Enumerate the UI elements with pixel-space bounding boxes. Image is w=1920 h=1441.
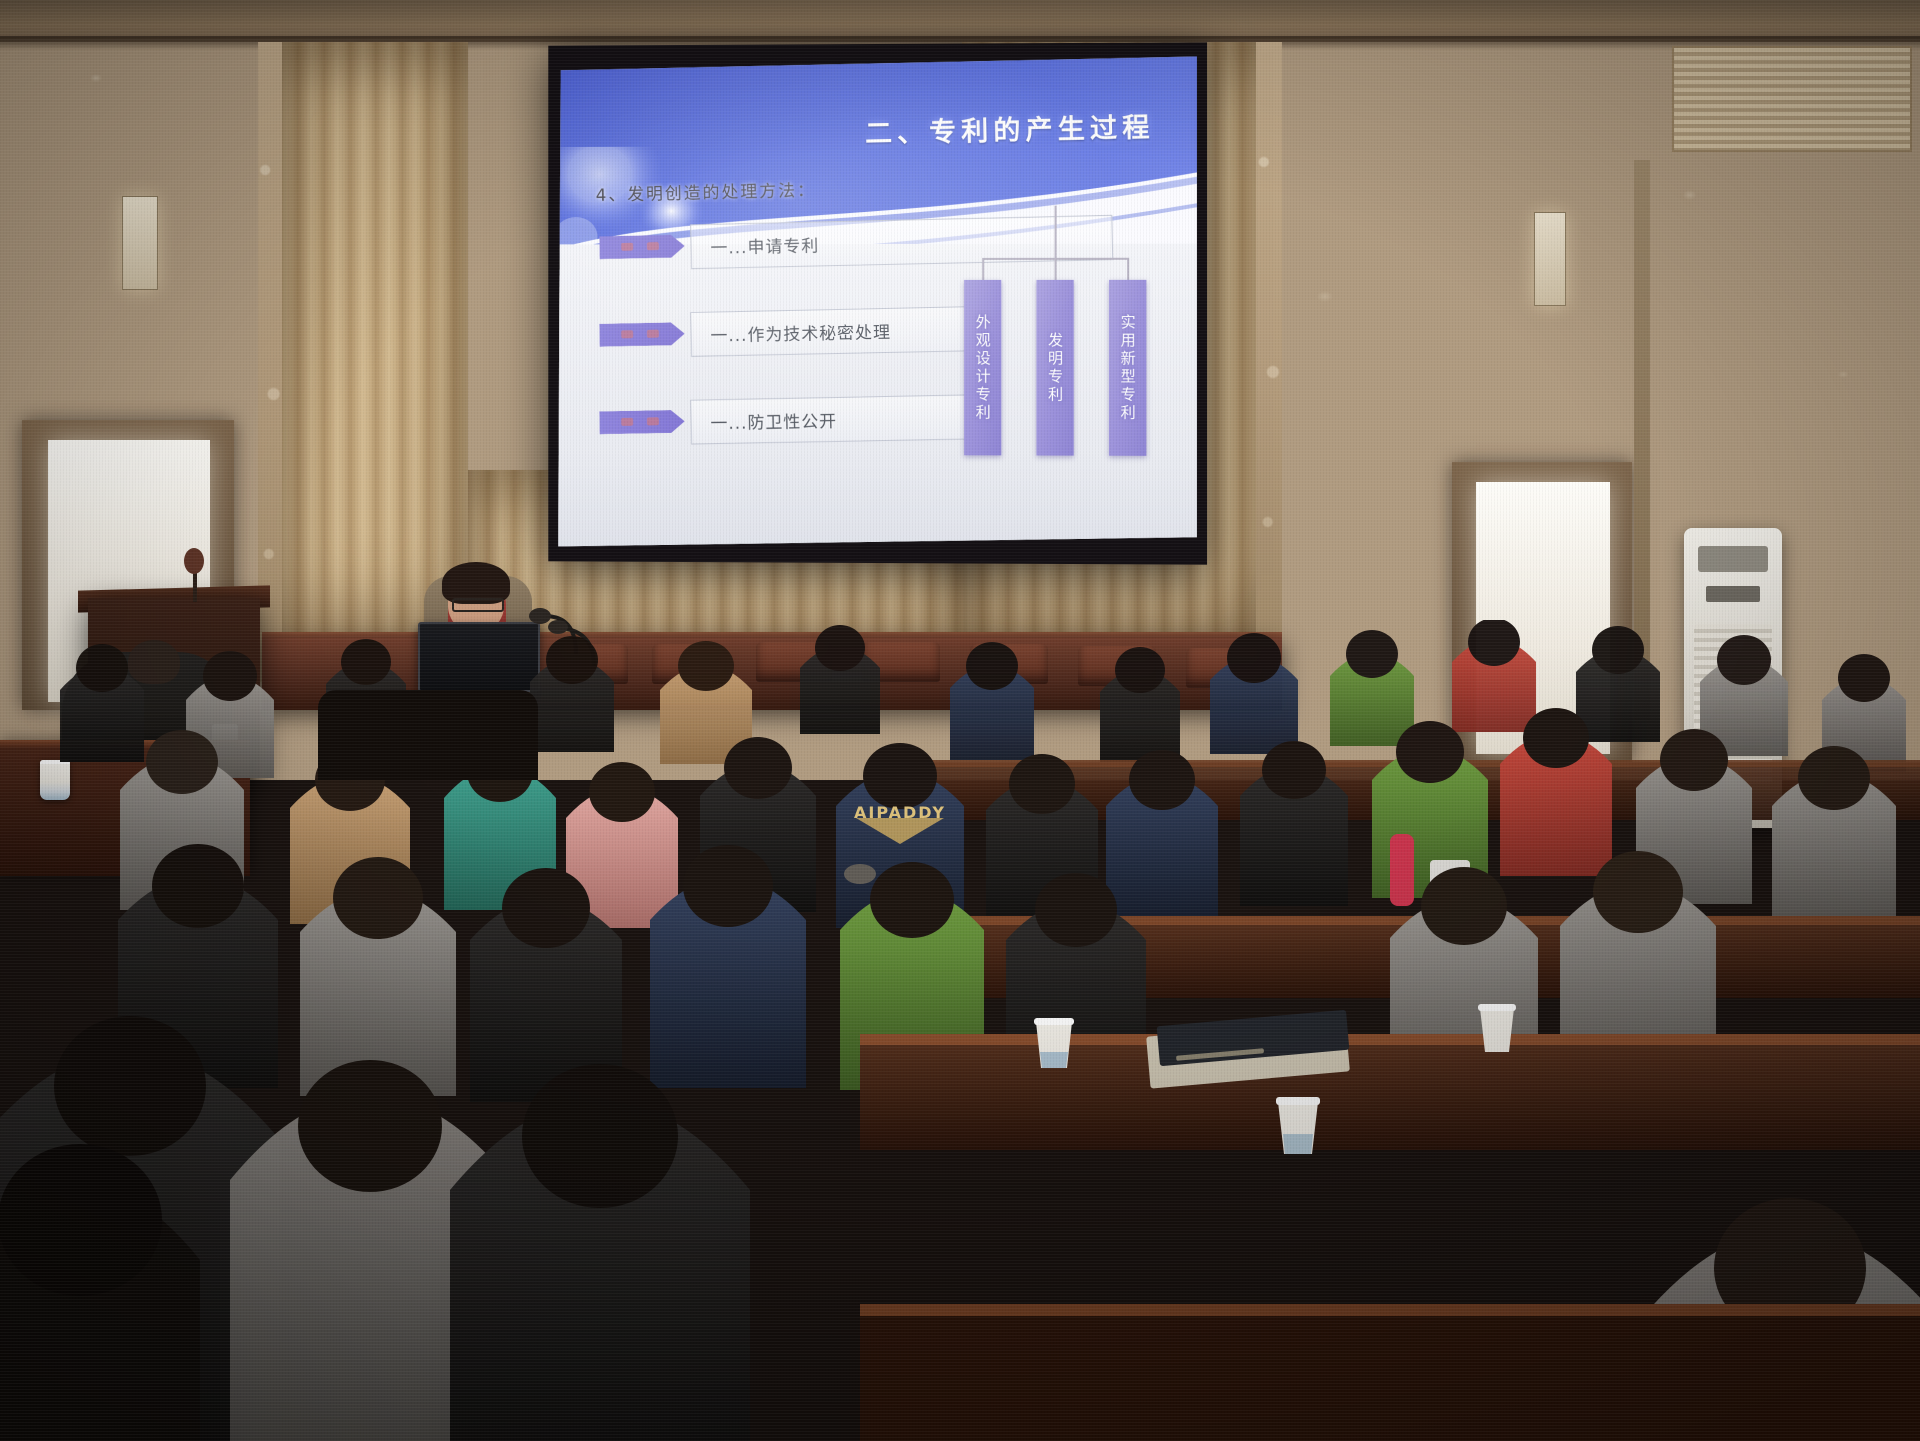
ac-vent-grille <box>1698 546 1768 572</box>
ceiling-vent <box>1672 46 1912 152</box>
audience-group: AIPADDY <box>0 620 1920 1441</box>
wall-sconce-right <box>1534 212 1566 306</box>
projected-slide: 二、专利的产生过程 4、发明创造的处理方法： 一...申请专利 一...作为技术… <box>558 56 1197 549</box>
projection-screen: 二、专利的产生过程 4、发明创造的处理方法： 一...申请专利 一...作为技术… <box>548 42 1207 564</box>
photo-scene: 二、专利的产生过程 4、发明创造的处理方法： 一...申请专利 一...作为技术… <box>0 0 1920 1441</box>
jacket-brand-text: AIPADDY <box>854 803 946 822</box>
wall-sconce-left <box>122 196 158 290</box>
thermos-bottle <box>1390 834 1414 906</box>
foreground-chair <box>318 690 538 780</box>
ac-display-panel <box>1706 586 1760 602</box>
wood-slat-panel-left <box>278 42 468 652</box>
thermos-cup <box>844 864 876 884</box>
lectern-mic-head <box>184 548 204 574</box>
marble-pilaster-right <box>1256 42 1282 642</box>
presenter-glasses <box>452 598 504 612</box>
projector-sheen <box>558 56 1197 549</box>
